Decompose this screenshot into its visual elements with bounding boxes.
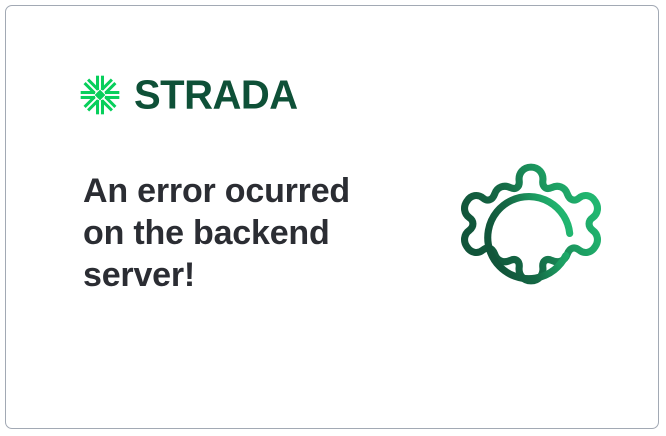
strada-asterisk-icon — [79, 74, 121, 116]
brand-lockup: STRADA — [79, 74, 298, 116]
gear-cog-icon — [452, 145, 610, 303]
error-card: STRADA An error ocurred on the backend s… — [5, 5, 659, 429]
brand-wordmark: STRADA — [134, 75, 298, 116]
error-message-text: An error ocurred on the backend server! — [83, 170, 383, 296]
